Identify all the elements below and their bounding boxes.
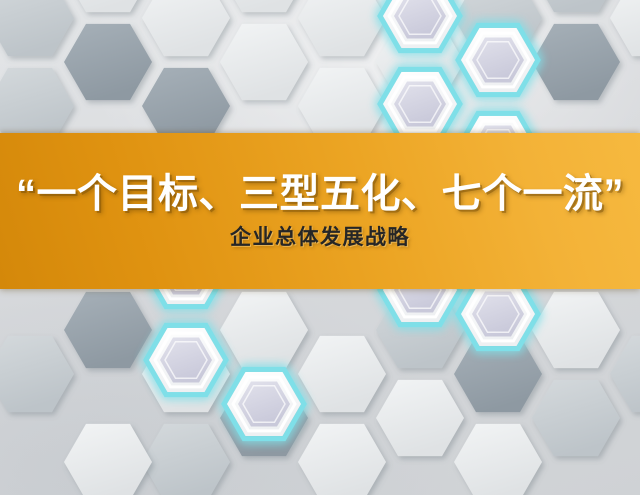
hexagon-tile [376,380,464,456]
glowing-hexagon-tile [458,279,538,348]
title-banner: “一个目标、三型五化、七个一流” 企业总体发展战略 [0,133,640,289]
hexagon-tile [64,0,152,12]
hexagon-tile [0,0,74,56]
hexagon-tile [142,0,230,56]
hexagon-tile [532,380,620,456]
hexagon-tile [610,0,640,56]
banner-title: “一个目标、三型五化、七个一流” [16,172,624,216]
hexagon-tile [64,292,152,368]
glowing-hexagon-tile [224,369,304,438]
hexagon-tile [298,424,386,495]
hexagon-tile [64,424,152,495]
hexagon-tile [298,336,386,412]
glowing-hexagon-tile [146,325,226,394]
hexagon-tile [298,0,386,56]
hexagon-tile [220,0,308,12]
hexagon-tile [532,0,620,12]
hexagon-tile [0,336,74,412]
glowing-hexagon-tile [458,25,538,94]
hexagon-tile [610,336,640,412]
hexagon-tile [142,424,230,495]
hexagon-tile [220,24,308,100]
hexagon-tile [64,24,152,100]
banner-subtitle: 企业总体发展战略 [230,226,410,249]
hexagon-tile [532,292,620,368]
glowing-hexagon-tile [380,69,460,138]
hexagon-tile [532,24,620,100]
hexagon-tile [454,424,542,495]
slide-canvas: “一个目标、三型五化、七个一流” 企业总体发展战略 [0,0,640,495]
hexagon-tile [220,292,308,368]
